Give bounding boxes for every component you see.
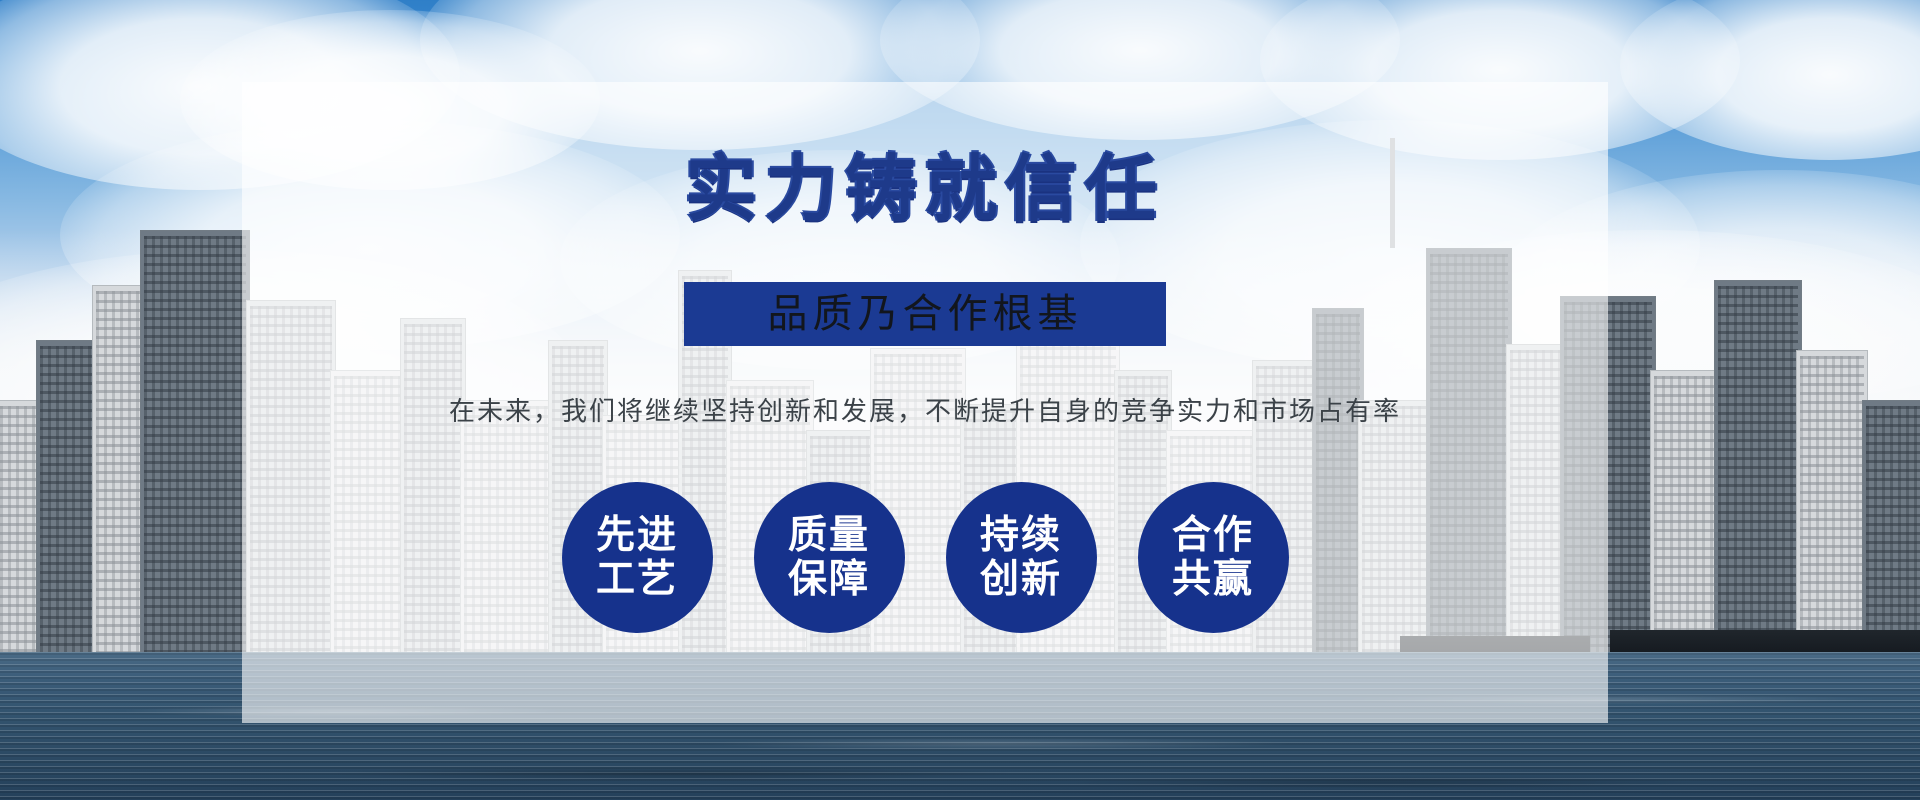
- feature-badge-line2: 保障: [788, 558, 870, 602]
- description-text: 在未来，我们将继续坚持创新和发展，不断提升自身的竞争实力和市场占有率: [242, 395, 1608, 429]
- building: [36, 340, 100, 700]
- building: [140, 230, 250, 700]
- feature-badge-line1: 质量: [788, 514, 870, 558]
- feature-badge-line2: 共赢: [1172, 558, 1254, 602]
- feature-badge-line2: 工艺: [596, 558, 678, 602]
- feature-badge-line1: 先进: [596, 514, 678, 558]
- feature-badge: 合作 共赢: [1138, 482, 1289, 633]
- subtitle-banner-bar: 品质乃合作根基: [684, 282, 1166, 346]
- feature-badge-line1: 持续: [980, 514, 1062, 558]
- subtitle-text: 品质乃合作根基: [768, 294, 1083, 334]
- page-title: 实力铸就信任: [242, 154, 1608, 226]
- feature-badge: 质量 保障: [754, 482, 905, 633]
- feature-badge-line2: 创新: [980, 558, 1062, 602]
- feature-badge-list: 先进 工艺 质量 保障 持续 创新 合作 共赢: [242, 482, 1608, 633]
- hero-banner: 实力铸就信任 品质乃合作根基 在未来，我们将继续坚持创新和发展，不断提升自身的竞…: [0, 0, 1920, 800]
- feature-badge: 先进 工艺: [562, 482, 713, 633]
- feature-badge: 持续 创新: [946, 482, 1097, 633]
- pier-structure: [1610, 630, 1920, 652]
- content-overlay-panel: 实力铸就信任 品质乃合作根基 在未来，我们将继续坚持创新和发展，不断提升自身的竞…: [242, 82, 1608, 723]
- feature-badge-line1: 合作: [1172, 514, 1254, 558]
